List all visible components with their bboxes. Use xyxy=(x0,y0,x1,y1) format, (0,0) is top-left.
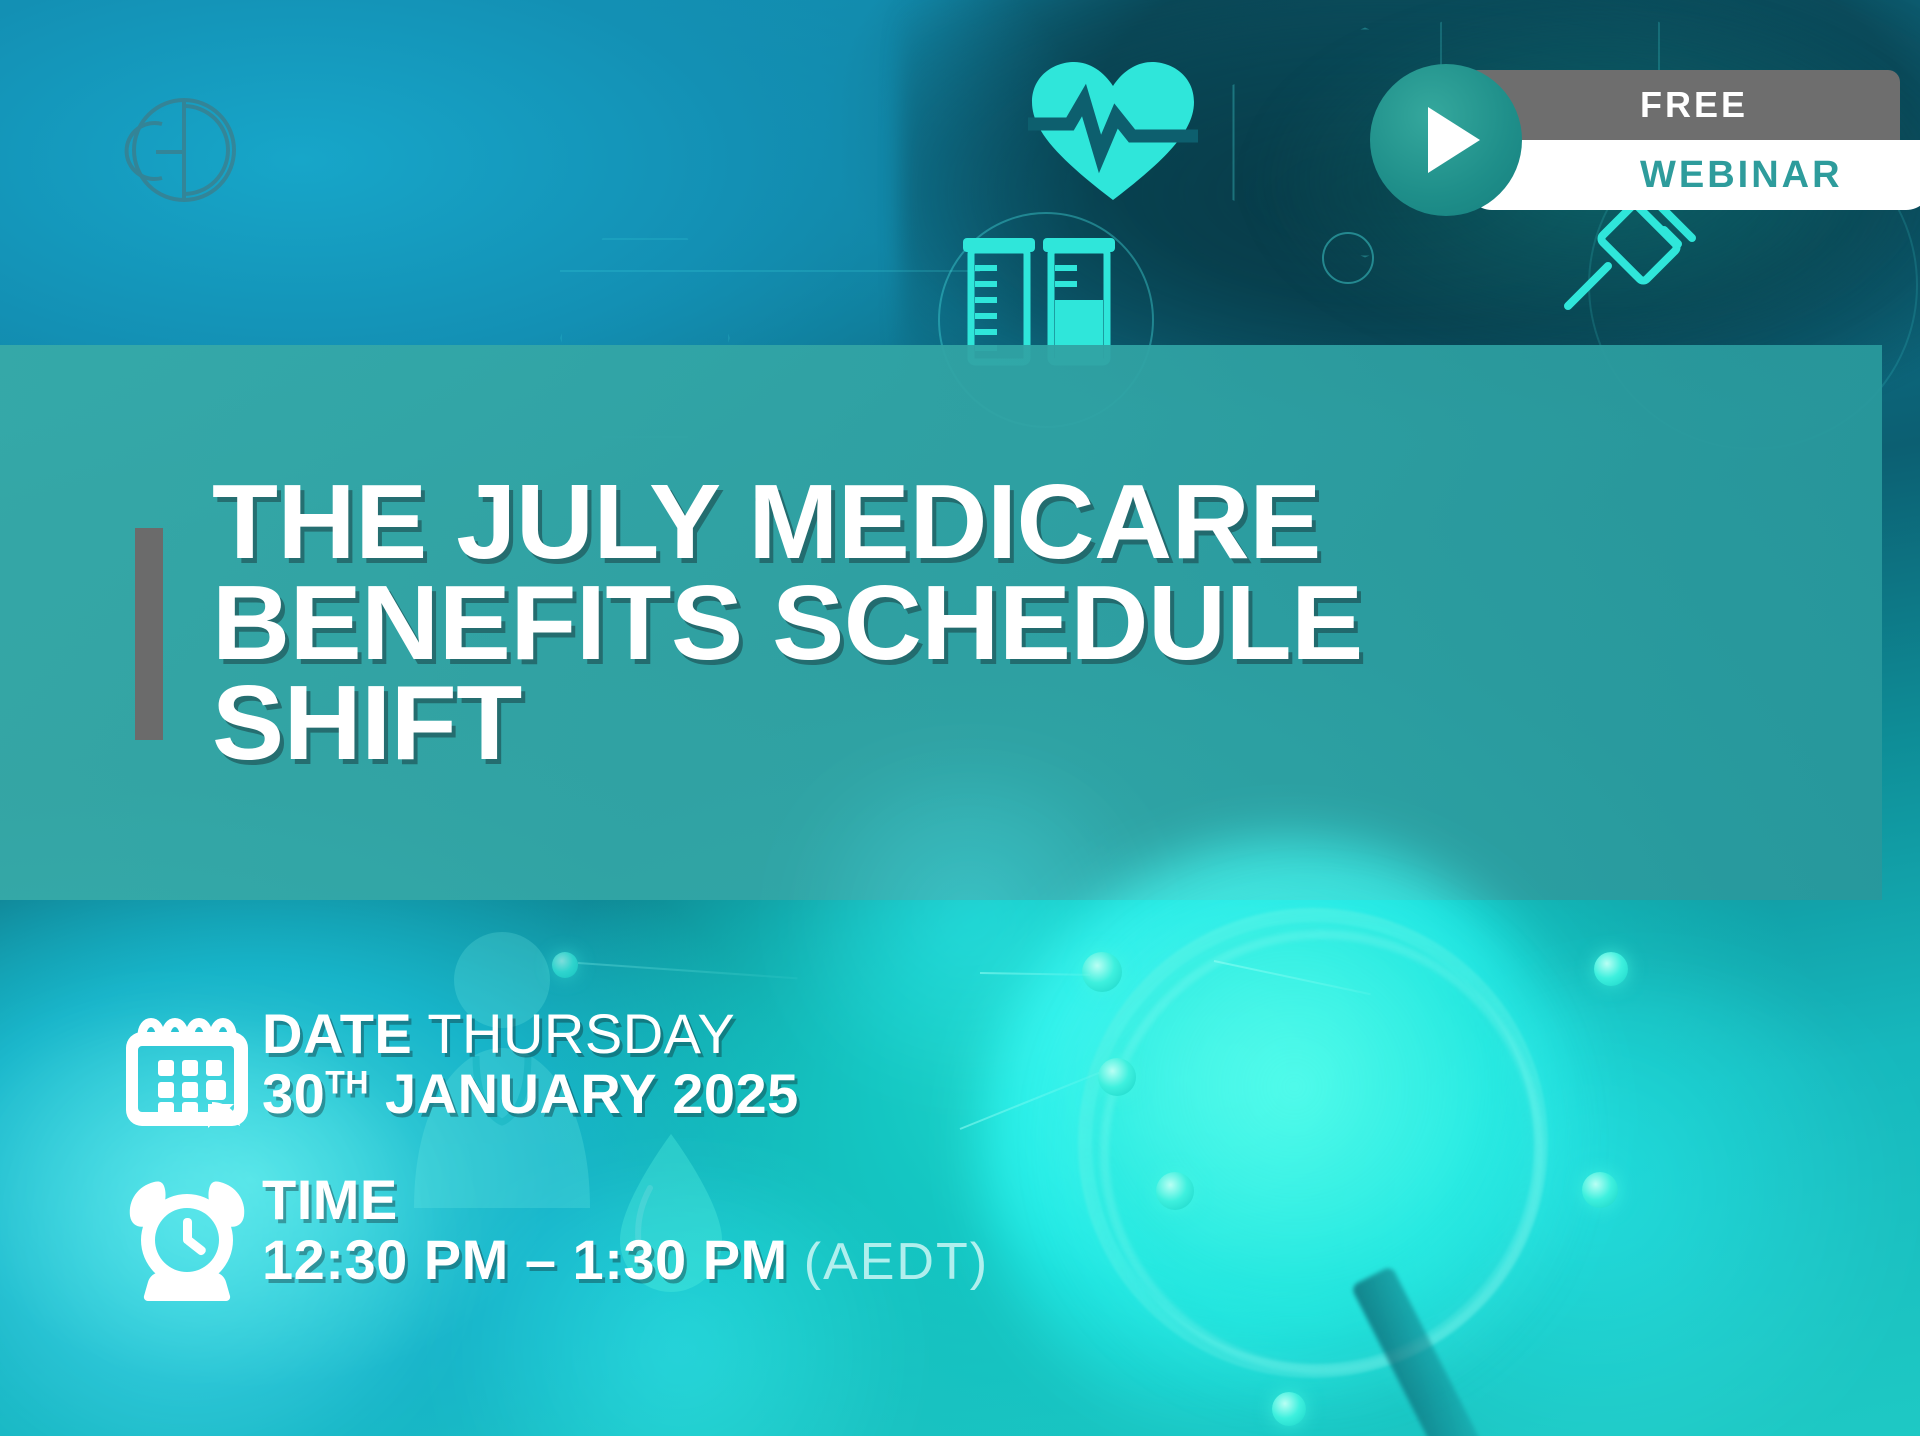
network-node xyxy=(1594,952,1628,986)
detail-row-date: DATE THURSDAY 30TH JANUARY 2025 xyxy=(112,1000,1412,1132)
detail-row-time: TIME 12:30 PM – 1:30 PM (AEDT) xyxy=(112,1166,1412,1302)
date-day: 30 xyxy=(262,1062,325,1125)
circular-monogram-logo xyxy=(128,94,240,206)
hud-circle-small xyxy=(1322,232,1374,284)
play-triangle-icon xyxy=(1428,107,1480,173)
date-line-1: DATE THURSDAY xyxy=(262,1004,799,1064)
webinar-poster: FREE WEBINAR THE JULY MEDICARE BENEFITS … xyxy=(0,0,1920,1436)
date-line-2: 30TH JANUARY 2025 xyxy=(262,1064,799,1124)
time-line-2: 12:30 PM – 1:30 PM (AEDT) xyxy=(262,1230,989,1290)
badge-webinar-label: WEBINAR xyxy=(1640,154,1843,197)
badge-free-strip: FREE xyxy=(1466,70,1900,140)
title-accent-bar xyxy=(135,528,163,740)
network-node xyxy=(1082,952,1122,992)
play-button-icon[interactable] xyxy=(1370,64,1522,216)
title-line-3: SHIFT xyxy=(212,673,1558,774)
network-node xyxy=(1582,1172,1618,1208)
event-details: DATE THURSDAY 30TH JANUARY 2025 xyxy=(112,1000,1412,1336)
detail-body-date: DATE THURSDAY 30TH JANUARY 2025 xyxy=(262,1000,799,1125)
page-title: THE JULY MEDICARE BENEFITS SCHEDULE SHIF… xyxy=(212,472,1558,774)
title-line-2: BENEFITS SCHEDULE xyxy=(212,573,1558,674)
network-node xyxy=(552,952,578,978)
title-line-1: THE JULY MEDICARE xyxy=(212,472,1558,573)
badge-webinar-strip: WEBINAR xyxy=(1466,140,1920,210)
badge-free-label: FREE xyxy=(1640,84,1748,126)
date-label: DATE xyxy=(262,1002,412,1065)
network-node xyxy=(1272,1392,1306,1426)
time-range: 12:30 PM – 1:30 PM xyxy=(262,1228,788,1291)
calendar-icon xyxy=(112,1000,262,1132)
free-webinar-badge: FREE WEBINAR xyxy=(1370,70,1910,210)
time-timezone: (AEDT) xyxy=(804,1233,989,1291)
heart-pulse-icon xyxy=(1028,58,1198,208)
test-tubes-icon xyxy=(955,228,1145,358)
date-month-year: JANUARY 2025 xyxy=(385,1062,799,1125)
alarm-clock-icon xyxy=(112,1166,262,1302)
date-weekday: THURSDAY xyxy=(427,1002,735,1065)
time-label: TIME xyxy=(262,1170,989,1230)
detail-body-time: TIME 12:30 PM – 1:30 PM (AEDT) xyxy=(262,1166,989,1291)
syringe-icon xyxy=(1560,196,1710,316)
date-ordinal: TH xyxy=(325,1065,369,1101)
